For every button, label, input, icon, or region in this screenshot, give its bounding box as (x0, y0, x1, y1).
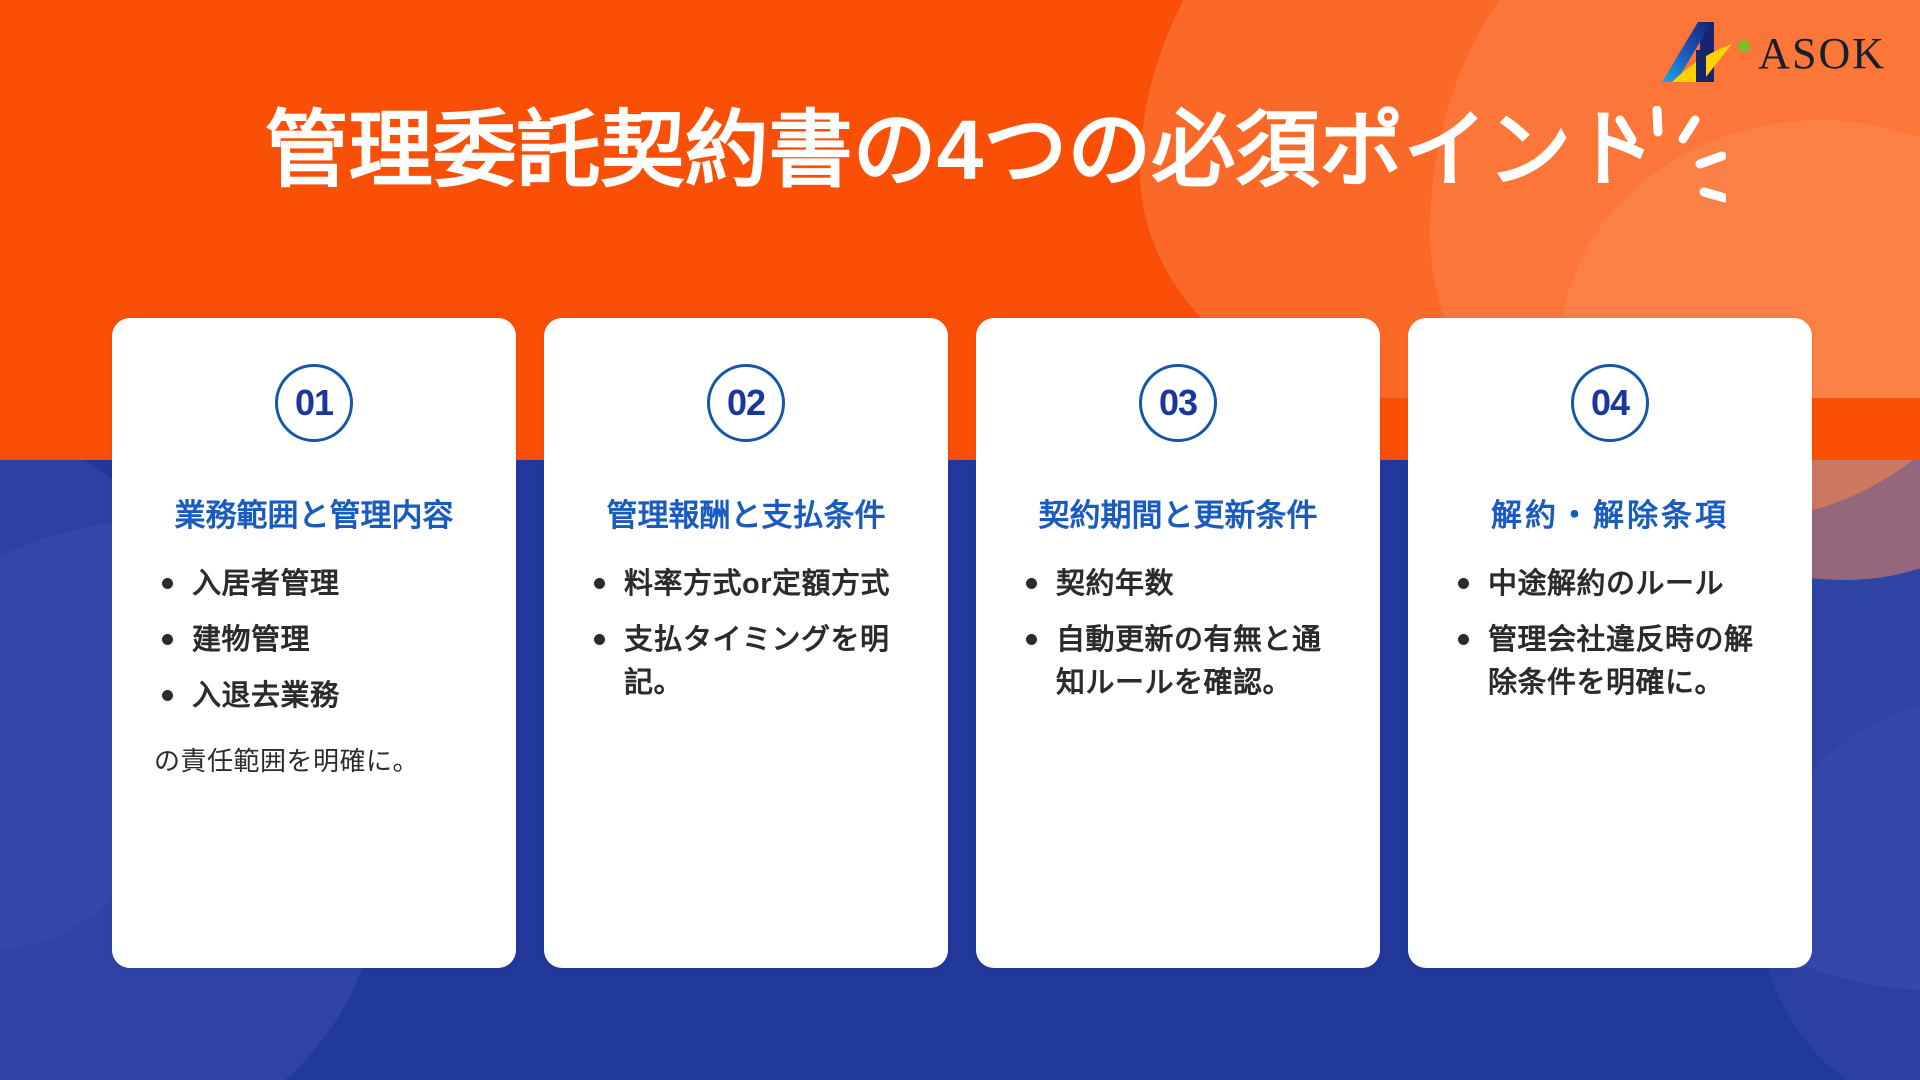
sparkle-icon (1596, 106, 1726, 216)
logo-green-dot-icon (1738, 40, 1750, 52)
card-number-badge: 04 (1571, 364, 1649, 442)
logo-wordmark: ASOK (1758, 28, 1886, 79)
card-bullet-list: 料率方式or定額方式 支払タイミングを明記。 (574, 563, 918, 718)
card-bullet-list: 中途解約のルール 管理会社違反時の解除条件を明確に。 (1438, 563, 1782, 718)
card-number-badge: 01 (275, 364, 353, 442)
card-01[interactable]: 01 業務範囲と管理内容 入居者管理 建物管理 入退去業務 の責任範囲を明確に。 (112, 318, 516, 968)
list-item: 支払タイミングを明記。 (588, 619, 918, 705)
list-item: 中途解約のルール (1452, 563, 1782, 606)
asok-logo: ASOK (1662, 20, 1886, 86)
cards-row: 01 業務範囲と管理内容 入居者管理 建物管理 入退去業務 の責任範囲を明確に。… (112, 318, 1812, 968)
card-title: 解約・解除条項 (1491, 490, 1729, 535)
list-item: 入退去業務 (156, 675, 486, 718)
list-item: 管理会社違反時の解除条件を明確に。 (1452, 619, 1782, 705)
card-03[interactable]: 03 契約期間と更新条件 契約年数 自動更新の有無と通知ルールを確認。 (976, 318, 1380, 968)
list-item: 契約年数 (1020, 563, 1350, 606)
card-number-badge: 02 (707, 364, 785, 442)
card-number-badge: 03 (1139, 364, 1217, 442)
asok-a-mark-icon (1662, 20, 1734, 86)
list-item: 料率方式or定額方式 (588, 563, 918, 606)
card-04[interactable]: 04 解約・解除条項 中途解約のルール 管理会社違反時の解除条件を明確に。 (1408, 318, 1812, 968)
card-bullet-list: 入居者管理 建物管理 入退去業務 (142, 563, 486, 731)
card-bullet-list: 契約年数 自動更新の有無と通知ルールを確認。 (1006, 563, 1350, 718)
card-footnote: の責任範囲を明確に。 (142, 743, 486, 779)
list-item: 入居者管理 (156, 563, 486, 606)
card-02[interactable]: 02 管理報酬と支払条件 料率方式or定額方式 支払タイミングを明記。 (544, 318, 948, 968)
list-item: 建物管理 (156, 619, 486, 662)
card-title: 契約期間と更新条件 (1039, 490, 1318, 535)
card-title: 管理報酬と支払条件 (607, 490, 886, 535)
slide-canvas: ASOK 管理委託契約書の4つの必須ポイント 01 業務範囲と管理内容 入居者管… (0, 0, 1920, 1080)
card-title: 業務範囲と管理内容 (175, 490, 454, 535)
list-item: 自動更新の有無と通知ルールを確認。 (1020, 619, 1350, 705)
